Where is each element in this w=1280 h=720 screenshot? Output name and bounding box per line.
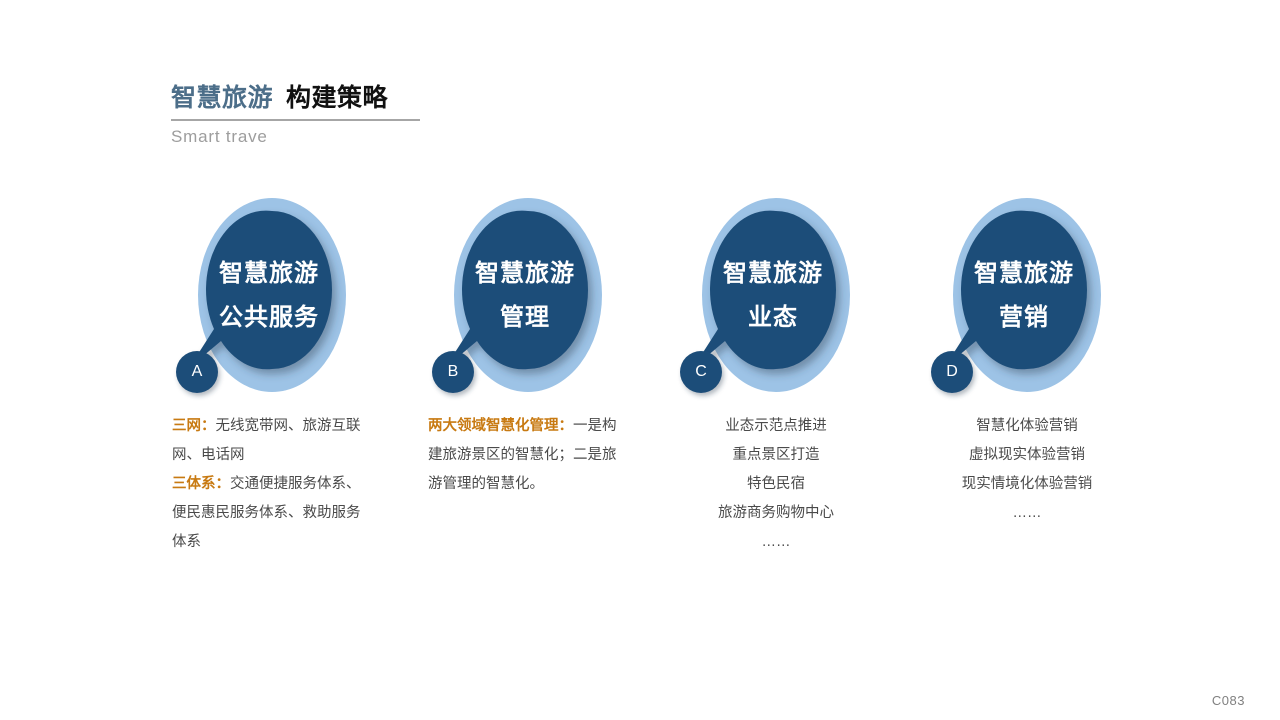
pillar-text-line: 重点景区打造	[676, 441, 876, 470]
pillar-paragraph: 三网：无线宽带网、旅游互联网、电话网	[172, 412, 372, 470]
pillar-text-line: 智慧化体验营销	[927, 412, 1127, 441]
pillar-badge-circle	[931, 351, 973, 393]
pillar-text-line: 特色民宿	[676, 470, 876, 499]
pillar-circle-graphic[interactable]: 智慧旅游营销D	[904, 196, 1150, 396]
pillar-circle-svg	[405, 196, 651, 396]
pillar-description: 智慧化体验营销虚拟现实体验营销现实情境化体验营销……	[927, 412, 1127, 528]
page-title-sub: 构建策略	[286, 84, 388, 112]
pillar-description: 三网：无线宽带网、旅游互联网、电话网三体系：交通便捷服务体系、便民惠民服务体系、…	[172, 412, 372, 557]
pillar-text-line: ……	[676, 528, 876, 557]
slide-code: C083	[1212, 693, 1245, 708]
pillar-paragraph-lead: 两大领域智慧化管理：	[428, 418, 573, 434]
pillar-column-a: 智慧旅游公共服务A三网：无线宽带网、旅游互联网、电话网三体系：交通便捷服务体系、…	[149, 196, 395, 396]
page-title-main: 智慧旅游	[171, 84, 273, 112]
pillar-column-d: 智慧旅游营销D智慧化体验营销虚拟现实体验营销现实情境化体验营销……	[904, 196, 1150, 396]
pillar-speech-bubble	[189, 211, 332, 370]
pillar-badge-circle	[680, 351, 722, 393]
pillar-text-line: 旅游商务购物中心	[676, 499, 876, 528]
pillar-paragraph: 三体系：交通便捷服务体系、便民惠民服务体系、救助服务体系	[172, 470, 372, 557]
page-title-english: Smart trave	[171, 126, 591, 148]
pillar-paragraph-lead: 三网：	[172, 418, 216, 434]
pillar-description: 两大领域智慧化管理：一是构建旅游景区的智慧化；二是旅游管理的智慧化。	[428, 412, 628, 499]
pillar-circle-svg	[149, 196, 395, 396]
pillar-speech-bubble	[693, 211, 836, 370]
pillar-circle-graphic[interactable]: 智慧旅游业态C	[653, 196, 899, 396]
pillar-text-line: 现实情境化体验营销	[927, 470, 1127, 499]
pillar-column-b: 智慧旅游管理B两大领域智慧化管理：一是构建旅游景区的智慧化；二是旅游管理的智慧化…	[405, 196, 651, 396]
pillar-paragraph-lead: 三体系：	[172, 476, 230, 492]
pillar-circle-svg	[904, 196, 1150, 396]
pillar-text-line: 虚拟现实体验营销	[927, 441, 1127, 470]
pillar-text-line: 业态示范点推进	[676, 412, 876, 441]
pillar-badge-circle	[432, 351, 474, 393]
pillar-speech-bubble	[944, 211, 1087, 370]
pillar-circle-graphic[interactable]: 智慧旅游管理B	[405, 196, 651, 396]
title-divider	[171, 119, 420, 121]
pillar-paragraph: 两大领域智慧化管理：一是构建旅游景区的智慧化；二是旅游管理的智慧化。	[428, 412, 628, 499]
pillar-text-line: ……	[927, 499, 1127, 528]
page-title-block: 智慧旅游构建策略 Smart trave	[171, 82, 591, 148]
pillar-speech-bubble	[445, 211, 588, 370]
pillar-column-c: 智慧旅游业态C业态示范点推进重点景区打造特色民宿旅游商务购物中心……	[653, 196, 899, 396]
pillar-description: 业态示范点推进重点景区打造特色民宿旅游商务购物中心……	[676, 412, 876, 557]
pillar-circle-svg	[653, 196, 899, 396]
pillar-badge-circle	[176, 351, 218, 393]
pillar-circle-graphic[interactable]: 智慧旅游公共服务A	[149, 196, 395, 396]
page-title: 智慧旅游构建策略	[171, 82, 591, 114]
